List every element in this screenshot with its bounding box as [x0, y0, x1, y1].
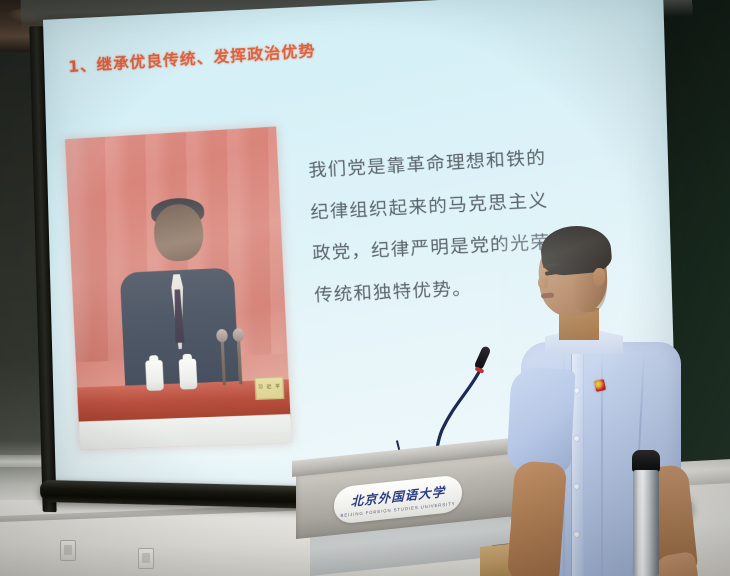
party-emblem-pin-icon — [594, 379, 606, 392]
lecture-hall-scene: 1、继承优良传统、发挥政治优势 习 — [0, 0, 730, 576]
photo-nameplate: 习 近 平 — [254, 376, 284, 400]
wall-outlet[interactable] — [60, 540, 76, 561]
photo-teacup — [145, 360, 164, 391]
speaker-sleeve — [506, 366, 575, 473]
shirt-button — [574, 436, 579, 441]
slide-body-line-1: 我们党是靠革命理想和铁的 — [308, 144, 647, 181]
photo-teacup — [179, 359, 198, 390]
speaker-person — [505, 222, 705, 576]
lectern: 北京外国语大学 BEIJING FOREIGN STUDIES UNIVERSI… — [292, 455, 540, 576]
slide-title: 1、继承优良传统、发挥政治优势 — [68, 39, 316, 77]
speaker-ear — [593, 268, 605, 286]
speaker-left-arm — [507, 460, 567, 576]
photo-nameplate-text: 习 近 平 — [257, 382, 281, 390]
shirt-button — [574, 484, 579, 489]
slide-photo: 习 近 平 — [65, 126, 292, 449]
thermos-cap — [632, 450, 660, 472]
shirt-button — [574, 388, 579, 393]
shirt-button — [574, 532, 579, 537]
thermos-body — [633, 470, 659, 576]
wall-outlet[interactable] — [138, 548, 154, 569]
speaker-nose — [538, 277, 548, 289]
slide-body-line-2: 纪律组织起来的马克思主义 — [310, 187, 649, 222]
thermos-flask — [632, 450, 660, 576]
